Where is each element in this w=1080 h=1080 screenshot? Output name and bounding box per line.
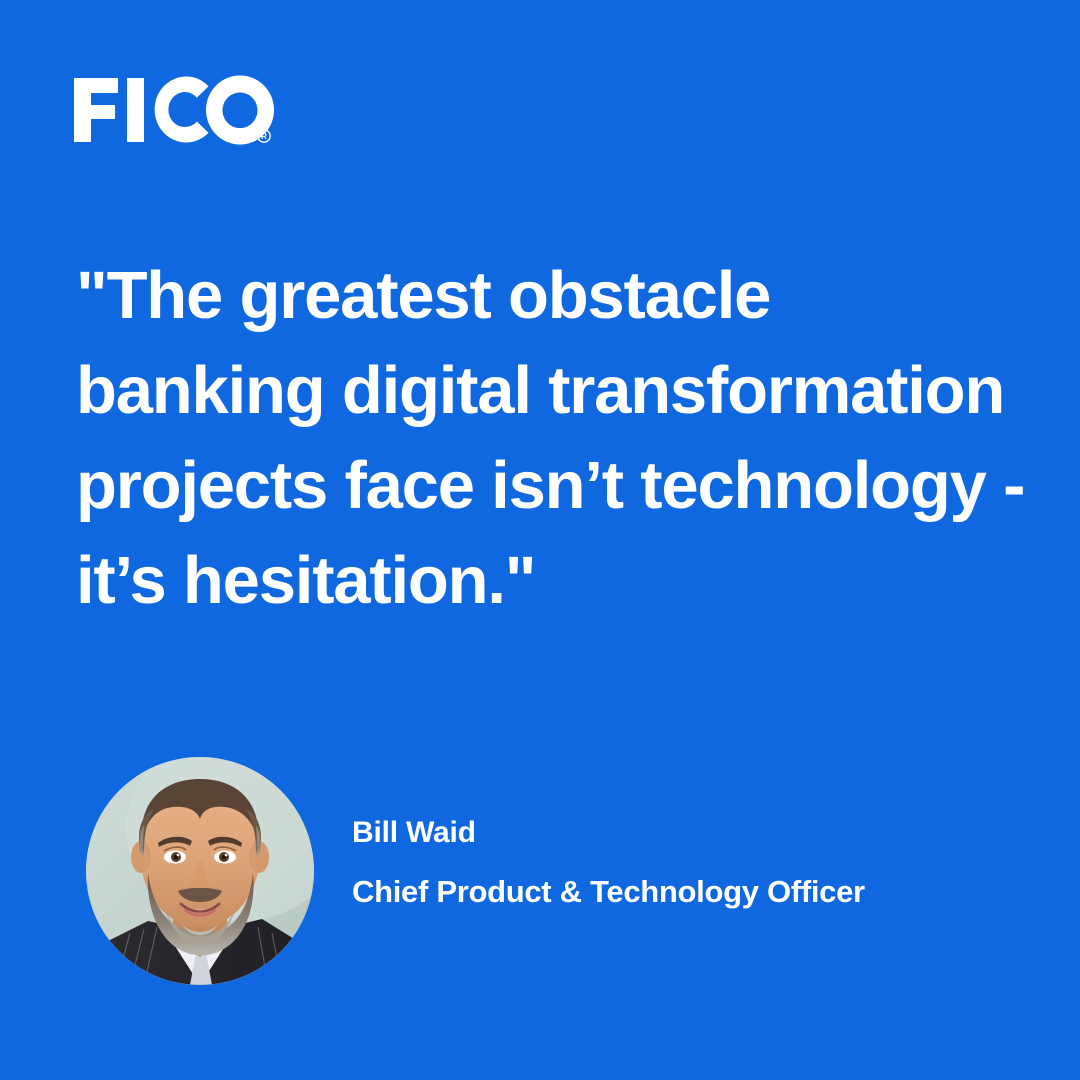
quote-text: "The greatest obstacle banking digital t… [76, 248, 1016, 628]
avatar [86, 757, 314, 985]
svg-text:R: R [261, 132, 267, 141]
quote-line: projects face isn’t technology - [76, 438, 1016, 533]
quote-card: R "The greatest obstacle banking digital… [0, 0, 1080, 1080]
person-title: Chief Product & Technology Officer [352, 873, 972, 911]
fico-logo: R [74, 72, 274, 148]
quote-line: banking digital transformation [76, 343, 1016, 438]
person-details: Bill Waid Chief Product & Technology Off… [352, 815, 972, 911]
attribution-block: Bill Waid Chief Product & Technology Off… [86, 757, 986, 987]
person-name: Bill Waid [352, 815, 972, 851]
quote-line: "The greatest obstacle [76, 248, 1016, 343]
portrait-photo-icon [86, 757, 314, 985]
quote-line: it’s hesitation." [76, 533, 1016, 628]
fico-logo-icon: R [74, 72, 274, 148]
